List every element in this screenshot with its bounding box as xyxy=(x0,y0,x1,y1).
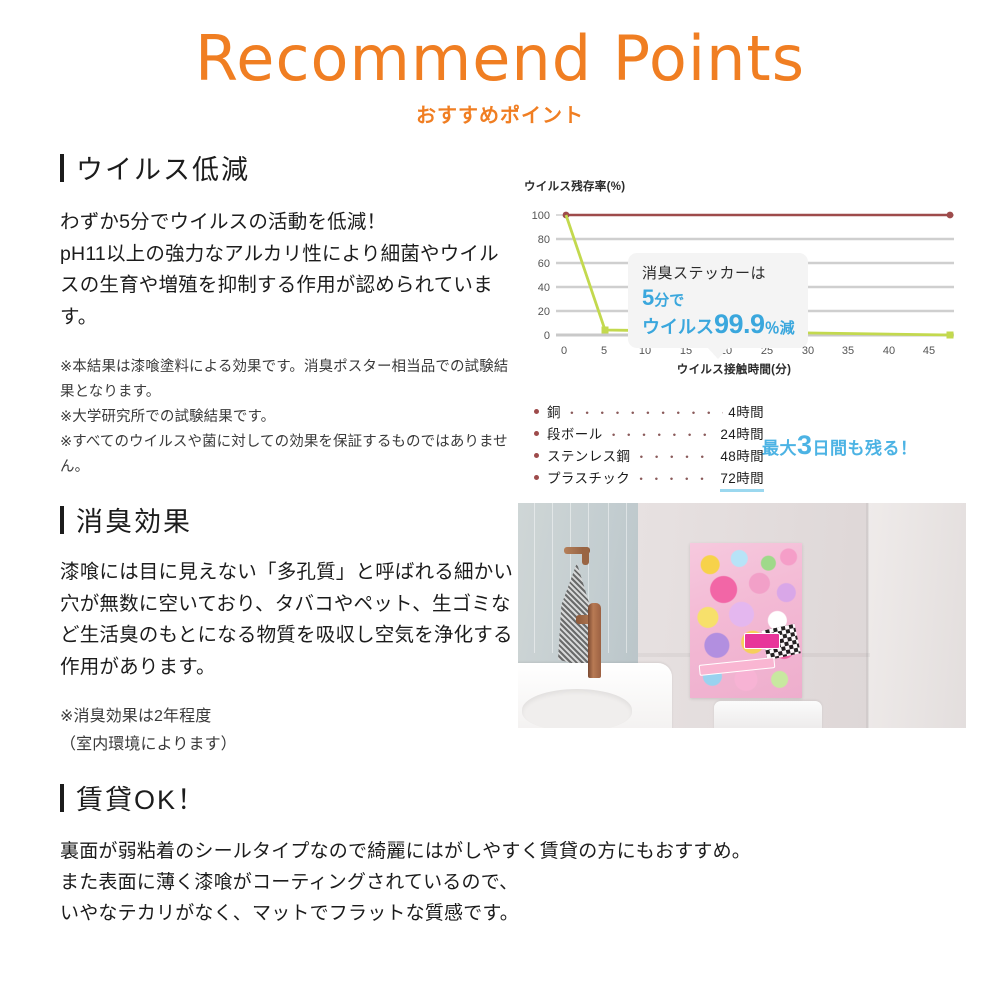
legend-item-label: 段ボール xyxy=(547,424,603,446)
surface-survival-legend: 銅 ・・・・・・・・・・・ 4時間 段ボール ・・・・・・・・ 24時間 ステン… xyxy=(534,402,764,492)
badge-suffix: 日間も残る！ xyxy=(813,439,918,458)
section-virus-reduction: ウイルス低減 わずか5分でウイルスの活動を低減！ pH11以上の強力なアルカリ性… xyxy=(60,148,510,480)
svg-text:40: 40 xyxy=(883,345,895,355)
note-item: ※消臭効果は2年程度 xyxy=(60,703,515,731)
recommend-points-page: Recommend Points おすすめポイント ウイルス低減 わずか5分でウ… xyxy=(0,0,1000,1000)
photo-toilet-tank xyxy=(714,701,822,728)
poster-sticker-band xyxy=(699,657,776,676)
photo-sticker-poster xyxy=(690,543,802,698)
svg-text:0: 0 xyxy=(561,345,567,355)
legend-item: プラスチック ・・・・・ 72時間 xyxy=(534,468,764,493)
badge-prefix: 最大 xyxy=(762,439,797,458)
poster-sticker-chip xyxy=(744,633,780,649)
svg-text:60: 60 xyxy=(538,258,550,270)
legend-leader-dots: ・・・・・ xyxy=(635,448,715,467)
section-heading-label: 賃貸OK！ xyxy=(76,778,206,817)
section-heading-label: 消臭効果 xyxy=(76,500,192,539)
legend-leader-dots: ・・・・・・・・・・・ xyxy=(566,404,723,423)
section-heading-rental: 賃貸OK！ xyxy=(60,778,840,817)
legend-item: 段ボール ・・・・・・・・ 24時間 xyxy=(534,424,764,446)
legend-item-value-highlighted: 72時間 xyxy=(720,468,764,493)
chart-callout-bubble: 消臭ステッカーは 5分で ウイルス99.9％減 xyxy=(628,253,808,348)
chart-x-axis-label: ウイルス接触時間(分) xyxy=(524,361,944,377)
callout-minutes-unit: 分 xyxy=(654,292,669,309)
series-control-point xyxy=(947,212,954,219)
photo-faucet xyxy=(588,603,601,678)
note-item: ※すべてのウイルスや菌に対しての効果を保証するものではありません。 xyxy=(60,430,510,480)
photo-wall-right xyxy=(868,503,966,728)
bullet-dot-icon xyxy=(534,431,539,436)
page-title: Recommend Points xyxy=(0,26,1000,91)
callout-line-2: 5分で xyxy=(642,285,796,311)
chart-y-axis-label: ウイルス残存率(%) xyxy=(524,178,964,194)
legend-item-label: 銅 xyxy=(547,402,561,424)
heading-bar-icon xyxy=(60,506,64,534)
section-heading-label: ウイルス低減 xyxy=(76,148,250,187)
legend-item: 銅 ・・・・・・・・・・・ 4時間 xyxy=(534,402,764,424)
svg-text:5: 5 xyxy=(601,345,607,355)
section-rental-ok: 賃貸OK！ 裏面が弱粘着のシールタイプなので綺麗にはがしやすく賃貸の方にもおすす… xyxy=(60,778,840,929)
svg-text:80: 80 xyxy=(538,234,550,246)
bullet-dot-icon xyxy=(534,409,539,414)
callout-percent-suffix: ％減 xyxy=(765,320,795,337)
bathroom-photo xyxy=(518,503,966,728)
series-sticker-point xyxy=(947,332,954,339)
legend-leader-dots: ・・・・・・・・ xyxy=(608,426,716,445)
svg-text:20: 20 xyxy=(538,306,550,318)
callout-line-3: ウイルス99.9％減 xyxy=(642,311,796,338)
callout-line-1: 消臭ステッカーは xyxy=(642,262,796,283)
callout-minutes-tail: で xyxy=(669,292,684,309)
section-body-rental: 裏面が弱粘着のシールタイプなので綺麗にはがしやすく賃貸の方にもおすすめ。 また表… xyxy=(60,837,840,929)
legend-item-value: 4時間 xyxy=(728,402,764,424)
legend-item-value: 48時間 xyxy=(720,446,764,468)
note-item: ※大学研究所での試験結果です。 xyxy=(60,405,510,430)
page-header: Recommend Points おすすめポイント xyxy=(0,26,1000,128)
svg-text:35: 35 xyxy=(842,345,854,355)
callout-virus-word: ウイルス xyxy=(642,317,714,337)
heading-bar-icon xyxy=(60,784,64,812)
page-subtitle: おすすめポイント xyxy=(0,99,1000,128)
legend-item-label: ステンレス鋼 xyxy=(547,446,630,468)
badge-number: 3 xyxy=(797,430,813,460)
section-notes-deodorizing: ※消臭効果は2年程度 （室内環境によります） xyxy=(60,703,515,758)
legend-item-label: プラスチック xyxy=(547,468,630,490)
section-body-virus: わずか5分でウイルスの活動を低減！ pH11以上の強力なアルカリ性により細菌やウ… xyxy=(60,207,510,333)
max-days-badge: 最大3日間も残る！ xyxy=(762,430,918,461)
photo-towel-hook-stem xyxy=(582,547,589,565)
legend-item: ステンレス鋼 ・・・・・ 48時間 xyxy=(534,446,764,468)
photo-sink-basin xyxy=(522,689,632,728)
svg-text:100: 100 xyxy=(532,210,550,222)
svg-text:45: 45 xyxy=(923,345,935,355)
legend-leader-dots: ・・・・・ xyxy=(635,470,715,489)
heading-bar-icon xyxy=(60,154,64,182)
section-body-deodorizing: 漆喰には目に見えない「多孔質」と呼ばれる細かい穴が無数に空いており、タバコやペッ… xyxy=(60,557,515,683)
note-item: ※本結果は漆喰塗料による効果です。消臭ポスター相当品での試験結果となります。 xyxy=(60,355,510,405)
section-heading-deodorizing: 消臭効果 xyxy=(60,500,515,539)
note-item: （室内環境によります） xyxy=(60,731,515,759)
legend-item-value: 24時間 xyxy=(720,424,764,446)
callout-minutes-number: 5 xyxy=(642,285,654,310)
section-notes-virus: ※本結果は漆喰塗料による効果です。消臭ポスター相当品での試験結果となります。 ※… xyxy=(60,355,510,480)
callout-percent-number: 99.9 xyxy=(714,309,765,339)
virus-survival-chart: ウイルス残存率(%) 100 80 60 40 20 0 0 5 xyxy=(524,178,964,377)
series-sticker-point xyxy=(602,327,609,334)
photo-wall-corner xyxy=(866,503,869,728)
bullet-dot-icon xyxy=(534,475,539,480)
section-deodorizing: 消臭効果 漆喰には目に見えない「多孔質」と呼ばれる細かい穴が無数に空いており、タ… xyxy=(60,500,515,758)
svg-text:40: 40 xyxy=(538,282,550,294)
chart-plot-area: 100 80 60 40 20 0 0 5 10 15 20 25 30 35 … xyxy=(524,205,962,355)
bullet-dot-icon xyxy=(534,453,539,458)
section-heading-virus: ウイルス低減 xyxy=(60,148,510,187)
svg-text:0: 0 xyxy=(544,330,550,342)
